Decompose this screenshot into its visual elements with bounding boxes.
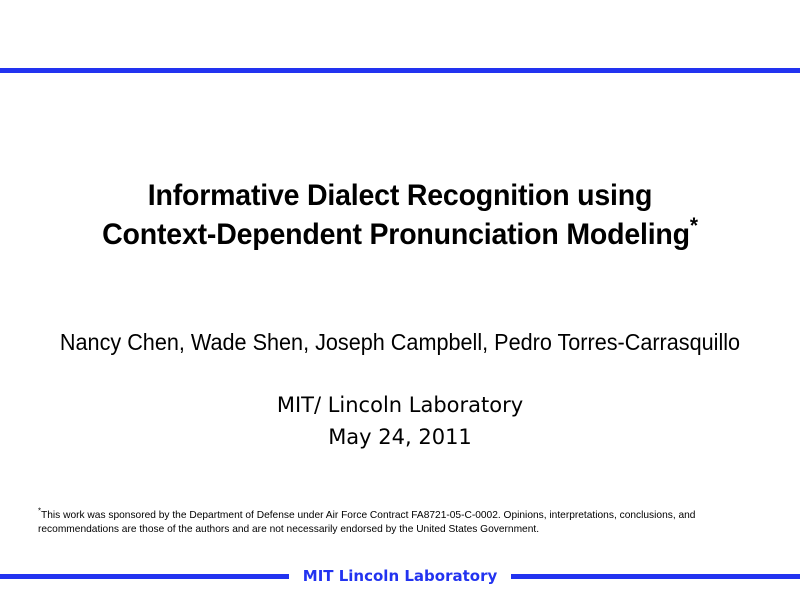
slide-footer: MIT Lincoln Laboratory xyxy=(0,560,800,592)
affiliation-organization: MIT/ Lincoln Laboratory xyxy=(0,389,800,421)
title-footnote-marker: * xyxy=(690,213,698,238)
footer-rule-left xyxy=(0,574,289,579)
footer-organization-label: MIT Lincoln Laboratory xyxy=(303,567,497,585)
title-line-2-text: Context-Dependent Pronunciation Modeling xyxy=(102,218,690,251)
title-line-2: Context-Dependent Pronunciation Modeling… xyxy=(20,215,780,254)
sponsorship-footnote: *This work was sponsored by the Departme… xyxy=(38,508,746,536)
top-accent-rule xyxy=(0,68,800,73)
affiliation-block: MIT/ Lincoln Laboratory May 24, 2011 xyxy=(0,389,800,453)
footnote-text: This work was sponsored by the Departmen… xyxy=(38,509,695,535)
title-slide: Informative Dialect Recognition using Co… xyxy=(0,0,800,599)
footer-rule-right xyxy=(511,574,800,579)
author-list: Nancy Chen, Wade Shen, Joseph Campbell, … xyxy=(24,328,776,356)
slide-title: Informative Dialect Recognition using Co… xyxy=(0,176,800,254)
presentation-date: May 24, 2011 xyxy=(0,421,800,453)
title-line-1: Informative Dialect Recognition using xyxy=(20,176,780,215)
